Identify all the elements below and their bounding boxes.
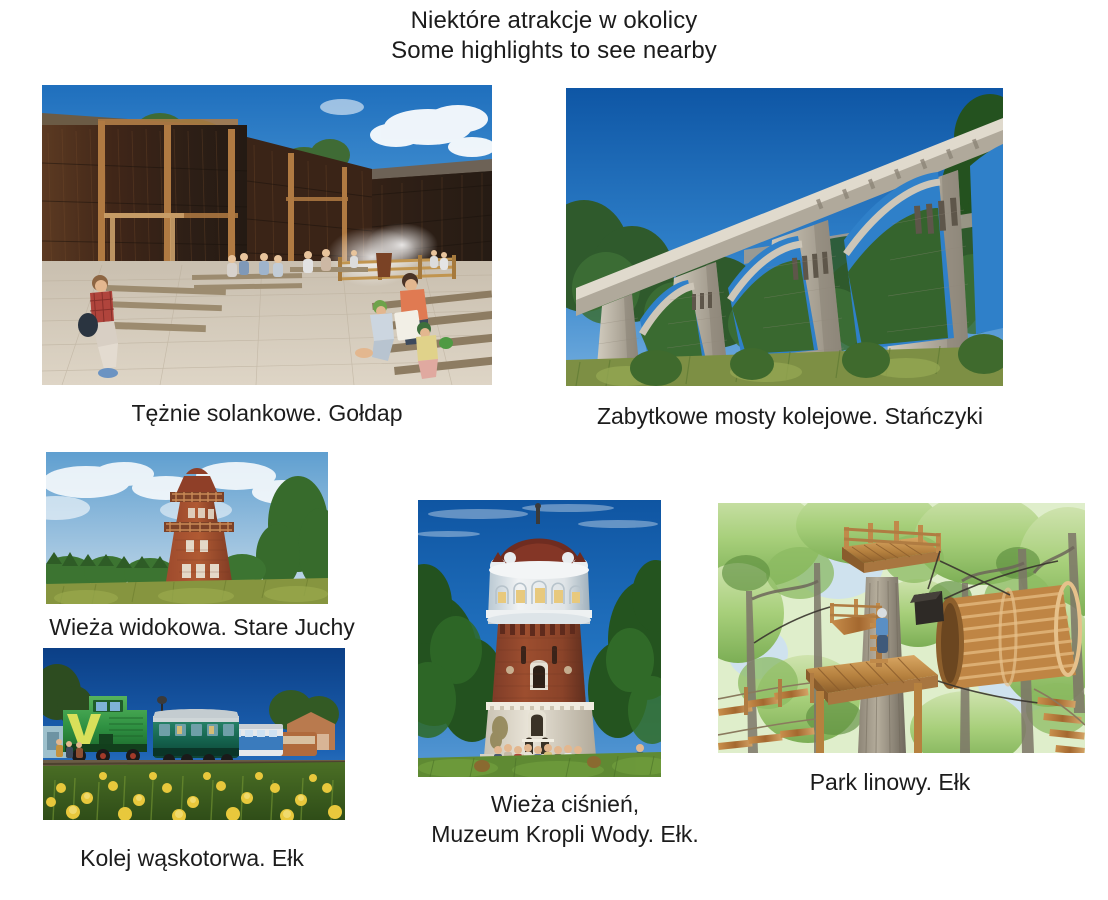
page-title: Niektóre atrakcje w okolicy Some highlig… (0, 6, 1108, 66)
photo-tezznie-goldap[interactable] (42, 85, 492, 385)
narrow-gauge-train-photo (43, 648, 345, 820)
graduation-tower-photo (42, 85, 492, 385)
caption-park-linowy-elk: Park linowy. Ełk (740, 767, 1040, 797)
caption-wieza-widokowa-stare-juchy: Wieża widokowa. Stare Juchy (12, 612, 392, 642)
title-line-polish: Niektóre atrakcje w okolicy (0, 6, 1108, 36)
title-line-english: Some highlights to see nearby (0, 36, 1108, 66)
caption-wieza-cisnien-elk: Wieża ciśnień, Muzeum Kropli Wody. Ełk. (390, 789, 740, 849)
photo-park-linowy-elk[interactable] (718, 503, 1085, 753)
photo-mosty-stanczyki[interactable] (566, 88, 1003, 386)
railway-viaduct-photo (566, 88, 1003, 386)
caption-kolej-waskotorowa-elk: Kolej wąskotorwa. Ełk (42, 843, 342, 873)
observation-tower-photo (46, 452, 328, 604)
slide-canvas: Niektóre atrakcje w okolicy Some highlig… (0, 0, 1108, 900)
caption-tezznie-goldap: Tężnie solankowe. Gołdap (42, 398, 492, 428)
photo-wieza-widokowa-stare-juchy[interactable] (46, 452, 328, 604)
caption-mosty-stanczyki: Zabytkowe mosty kolejowe. Stańczyki (540, 401, 1040, 431)
photo-wieza-cisnien-elk[interactable] (418, 500, 661, 777)
rope-park-photo (718, 503, 1085, 753)
photo-kolej-waskotorowa-elk[interactable] (43, 648, 345, 820)
water-tower-photo (418, 500, 661, 777)
